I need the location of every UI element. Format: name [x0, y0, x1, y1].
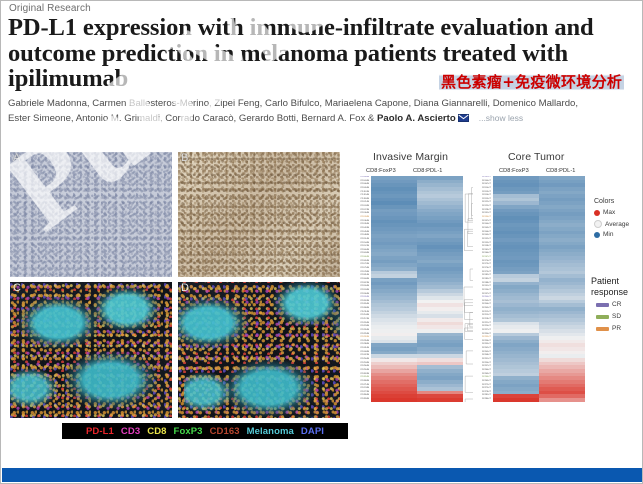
micrograph-panel-d: D [178, 282, 340, 418]
swatch-cr [596, 303, 609, 307]
article-figure-page: Original Research PD-L1 expression with … [0, 0, 643, 484]
heatmap-title-core-tumor: Core Tumor [508, 151, 564, 163]
marker-legend-cd3: CD3 [121, 426, 140, 437]
col-label-im-cd8pdl1: CD8:PDL-1 [413, 168, 443, 174]
heatmap-row-labels-invasive-margin: PZ-100-IMPZ-103-IMPZ-106-IMPZ-109-IMPZ-1… [353, 176, 369, 402]
micrograph-grid: A B C D PD-L1CD3CD8FoxP3CD163MelanomaDAP… [5, 146, 346, 441]
heatmap-title-invasive-margin: Invasive Margin [373, 151, 448, 163]
colors-legend-title: Colors [594, 198, 614, 205]
marker-legend-foxp3: FoxP3 [174, 426, 203, 437]
colors-legend-average: Average [594, 220, 629, 228]
response-legend-cr-label: CR [612, 301, 621, 308]
marker-legend-dapi: DAPI [301, 426, 324, 437]
author-line-1: Gabriele Madonna, Carmen Ballesteros-Mer… [8, 98, 578, 109]
marker-legend-pdl1: PD-L1 [86, 426, 114, 437]
response-legend-cr: CR [596, 301, 621, 308]
response-legend-pr: PR [596, 325, 621, 332]
swatch-average [594, 220, 602, 228]
panel-label-b: B [181, 152, 188, 164]
heatmap-column-0-1 [417, 176, 463, 402]
corresponding-author[interactable]: Paolo A. Ascierto [377, 113, 456, 124]
response-legend-title: Patient response [591, 276, 628, 297]
response-legend-title-line2: response [591, 287, 628, 298]
col-label-ct-cd8pdl1: CD8:PDL-1 [546, 168, 576, 174]
marker-legend-melanoma: Melanoma [247, 426, 294, 437]
heatmap-cell [371, 398, 417, 402]
show-less-link[interactable]: ...show less [479, 113, 523, 123]
heatmap-cell [417, 398, 463, 402]
panel-label-a: A [13, 152, 20, 164]
marker-legend-cd163: CD163 [210, 426, 240, 437]
response-legend-title-line1: Patient [591, 276, 628, 287]
article-header: Original Research PD-L1 expression with … [1, 1, 643, 136]
panel-b-texture [178, 152, 340, 277]
heatmap-figure: Invasive Margin Core Tumor CD8:FoxP3 CD8… [353, 141, 643, 441]
colors-legend-min: Min [594, 231, 613, 238]
heatmap-column-1-0 [493, 176, 539, 402]
article-type-kicker: Original Research [9, 3, 91, 14]
colors-legend-max-label: Max [603, 209, 615, 216]
envelope-icon[interactable] [458, 114, 469, 122]
author-line-2: Ester Simeone, Antonio M. Grimaldi, Corr… [8, 113, 377, 124]
chinese-annotation: 黑色素瘤+免疫微环境分析 [439, 73, 624, 91]
heatmap-cell [539, 398, 585, 402]
response-legend-sd: SD [596, 313, 621, 320]
col-label-im-cd8foxp3: CD8:FoxP3 [366, 168, 396, 174]
author-list: Gabriele Madonna, Carmen Ballesteros-Mer… [8, 97, 643, 126]
response-legend-sd-label: SD [612, 313, 621, 320]
panel-label-c: C [13, 282, 21, 294]
heatmap-row-labels-core-tumor: PZ-101-CTPZ-104-CTPZ-107-CTPZ-110-CTPZ-1… [475, 176, 491, 402]
micrograph-panel-b: B [178, 152, 340, 277]
dendrogram-core-tumor [461, 176, 475, 402]
panel-a-texture [10, 152, 172, 277]
colors-legend-min-label: Min [603, 231, 613, 238]
micrograph-panel-c: C [10, 282, 172, 418]
panel-d-texture [178, 282, 340, 418]
bottom-accent-bar [2, 468, 643, 482]
swatch-pr [596, 327, 609, 331]
heatmap-cells-core-tumor [493, 176, 585, 402]
colors-legend-average-label: Average [605, 221, 629, 228]
heatmap-row-label: PZ-283-IM [353, 398, 369, 402]
swatch-max [594, 210, 600, 216]
figure-area: A B C D PD-L1CD3CD8FoxP3CD163MelanomaDAP… [1, 141, 643, 446]
swatch-sd [596, 315, 609, 319]
micrograph-panel-a: A [10, 152, 172, 277]
response-legend-pr-label: PR [612, 325, 621, 332]
panel-label-d: D [181, 282, 189, 294]
heatmap-cell [493, 398, 539, 402]
marker-color-legend: PD-L1CD3CD8FoxP3CD163MelanomaDAPI [62, 423, 348, 439]
col-label-ct-cd8foxp3: CD8:FoxP3 [499, 168, 529, 174]
heatmap-cells-invasive-margin [371, 176, 463, 402]
heatmap-column-0-0 [371, 176, 417, 402]
heatmap-row-label: PZ-284-CT [475, 398, 491, 402]
marker-legend-cd8: CD8 [147, 426, 166, 437]
heatmap-column-1-1 [539, 176, 585, 402]
panel-c-texture [10, 282, 172, 418]
swatch-min [594, 232, 600, 238]
colors-legend-max: Max [594, 209, 615, 216]
